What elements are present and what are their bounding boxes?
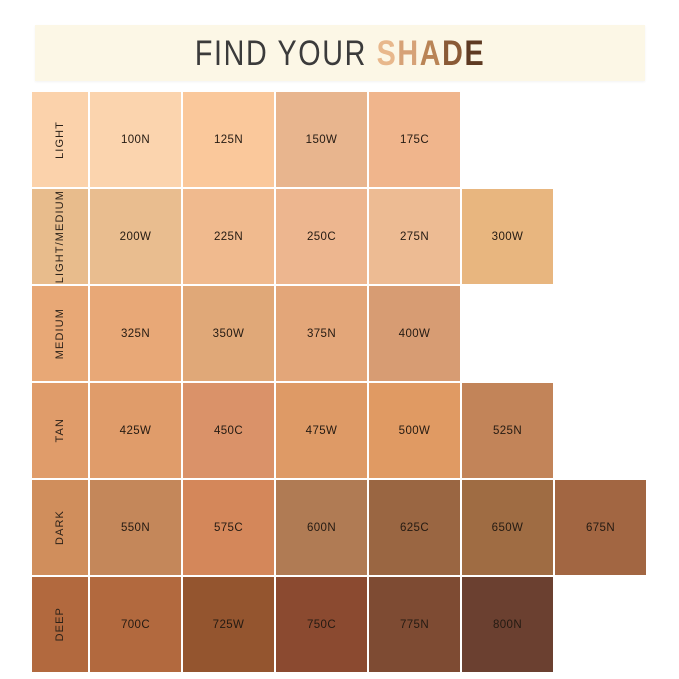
shade-swatch-375N[interactable]: 375N — [276, 286, 367, 381]
page-title-plain: FIND YOUR — [195, 34, 377, 73]
shade-row: DARK550N575C600N625C650W675N — [32, 480, 648, 575]
shade-swatch-150W[interactable]: 150W — [276, 92, 367, 187]
shade-code: 400W — [399, 328, 431, 340]
shade-code: 450C — [214, 425, 243, 437]
shade-grid: LIGHT100N125N150W175CLIGHT/MEDIUM200W225… — [32, 92, 648, 674]
shade-code: 325N — [121, 328, 150, 340]
shade-code: 800N — [493, 619, 522, 631]
shade-swatch-450C[interactable]: 450C — [183, 383, 274, 478]
shade-swatch-525N[interactable]: 525N — [462, 383, 553, 478]
shade-swatch-175C[interactable]: 175C — [369, 92, 460, 187]
shade-row: DEEP700C725W750C775N800N — [32, 577, 648, 672]
shade-code: 150W — [306, 134, 338, 146]
shade-code: 275N — [400, 231, 429, 243]
shade-swatch-650W[interactable]: 650W — [462, 480, 553, 575]
row-label-light: LIGHT — [32, 92, 88, 187]
title-accent-letter-0: S — [377, 34, 398, 73]
title-accent-letter-1: H — [397, 34, 419, 73]
shade-swatch-200W[interactable]: 200W — [90, 189, 181, 284]
shade-swatch-350W[interactable]: 350W — [183, 286, 274, 381]
shade-code: 300W — [492, 231, 524, 243]
shade-code: 525N — [493, 425, 522, 437]
shade-swatch-250C[interactable]: 250C — [276, 189, 367, 284]
shade-swatch-775N[interactable]: 775N — [369, 577, 460, 672]
header-banner: FIND YOUR SHADE — [35, 25, 645, 81]
shade-row: LIGHT100N125N150W175C — [32, 92, 648, 187]
shade-code: 750C — [307, 619, 336, 631]
shade-code: 700C — [121, 619, 150, 631]
shade-swatch-550N[interactable]: 550N — [90, 480, 181, 575]
shade-code: 225N — [214, 231, 243, 243]
shade-code: 350W — [213, 328, 245, 340]
shade-swatch-750C[interactable]: 750C — [276, 577, 367, 672]
shade-code: 100N — [121, 134, 150, 146]
shade-swatch-575C[interactable]: 575C — [183, 480, 274, 575]
shade-code: 475W — [306, 425, 338, 437]
shade-swatch-275N[interactable]: 275N — [369, 189, 460, 284]
shade-code: 375N — [307, 328, 336, 340]
row-label-dark: DARK — [32, 480, 88, 575]
shade-swatch-600N[interactable]: 600N — [276, 480, 367, 575]
row-label-deep: DEEP — [32, 577, 88, 672]
shade-swatch-700C[interactable]: 700C — [90, 577, 181, 672]
shade-code: 200W — [120, 231, 152, 243]
shade-code: 550N — [121, 522, 150, 534]
shade-swatch-100N[interactable]: 100N — [90, 92, 181, 187]
shade-swatch-400W[interactable]: 400W — [369, 286, 460, 381]
shade-code: 725W — [213, 619, 245, 631]
row-label-light-medium: LIGHT/MEDIUM — [32, 189, 88, 284]
shade-code: 675N — [586, 522, 615, 534]
row-label-medium: MEDIUM — [32, 286, 88, 381]
shade-code: 650W — [492, 522, 524, 534]
shade-code: 625C — [400, 522, 429, 534]
shade-swatch-800N[interactable]: 800N — [462, 577, 553, 672]
title-accent-letter-2: A — [420, 34, 442, 73]
shade-swatch-725W[interactable]: 725W — [183, 577, 274, 672]
shade-code: 250C — [307, 231, 336, 243]
shade-code: 425W — [120, 425, 152, 437]
shade-code: 575C — [214, 522, 243, 534]
shade-swatch-475W[interactable]: 475W — [276, 383, 367, 478]
row-label-text: LIGHT — [54, 121, 66, 159]
shade-swatch-325N[interactable]: 325N — [90, 286, 181, 381]
shade-row: LIGHT/MEDIUM200W225N250C275N300W — [32, 189, 648, 284]
title-accent-letter-3: D — [442, 34, 464, 73]
shade-code: 775N — [400, 619, 429, 631]
shade-code: 175C — [400, 134, 429, 146]
row-label-text: TAN — [54, 418, 66, 442]
shade-code: 600N — [307, 522, 336, 534]
shade-swatch-125N[interactable]: 125N — [183, 92, 274, 187]
shade-code: 125N — [214, 134, 243, 146]
shade-swatch-675N[interactable]: 675N — [555, 480, 646, 575]
page-title: FIND YOUR SHADE — [195, 36, 485, 71]
shade-row: TAN425W450C475W500W525N — [32, 383, 648, 478]
shade-swatch-425W[interactable]: 425W — [90, 383, 181, 478]
shade-row: MEDIUM325N350W375N400W — [32, 286, 648, 381]
shade-code: 500W — [399, 425, 431, 437]
shade-swatch-300W[interactable]: 300W — [462, 189, 553, 284]
row-label-text: LIGHT/MEDIUM — [54, 190, 66, 283]
row-label-tan: TAN — [32, 383, 88, 478]
title-accent-letter-4: E — [464, 34, 485, 73]
row-label-text: DEEP — [54, 607, 66, 641]
page-title-accent: SHADE — [377, 34, 486, 73]
row-label-text: MEDIUM — [54, 308, 66, 359]
shade-swatch-500W[interactable]: 500W — [369, 383, 460, 478]
shade-swatch-225N[interactable]: 225N — [183, 189, 274, 284]
shade-swatch-625C[interactable]: 625C — [369, 480, 460, 575]
row-label-text: DARK — [54, 510, 66, 545]
